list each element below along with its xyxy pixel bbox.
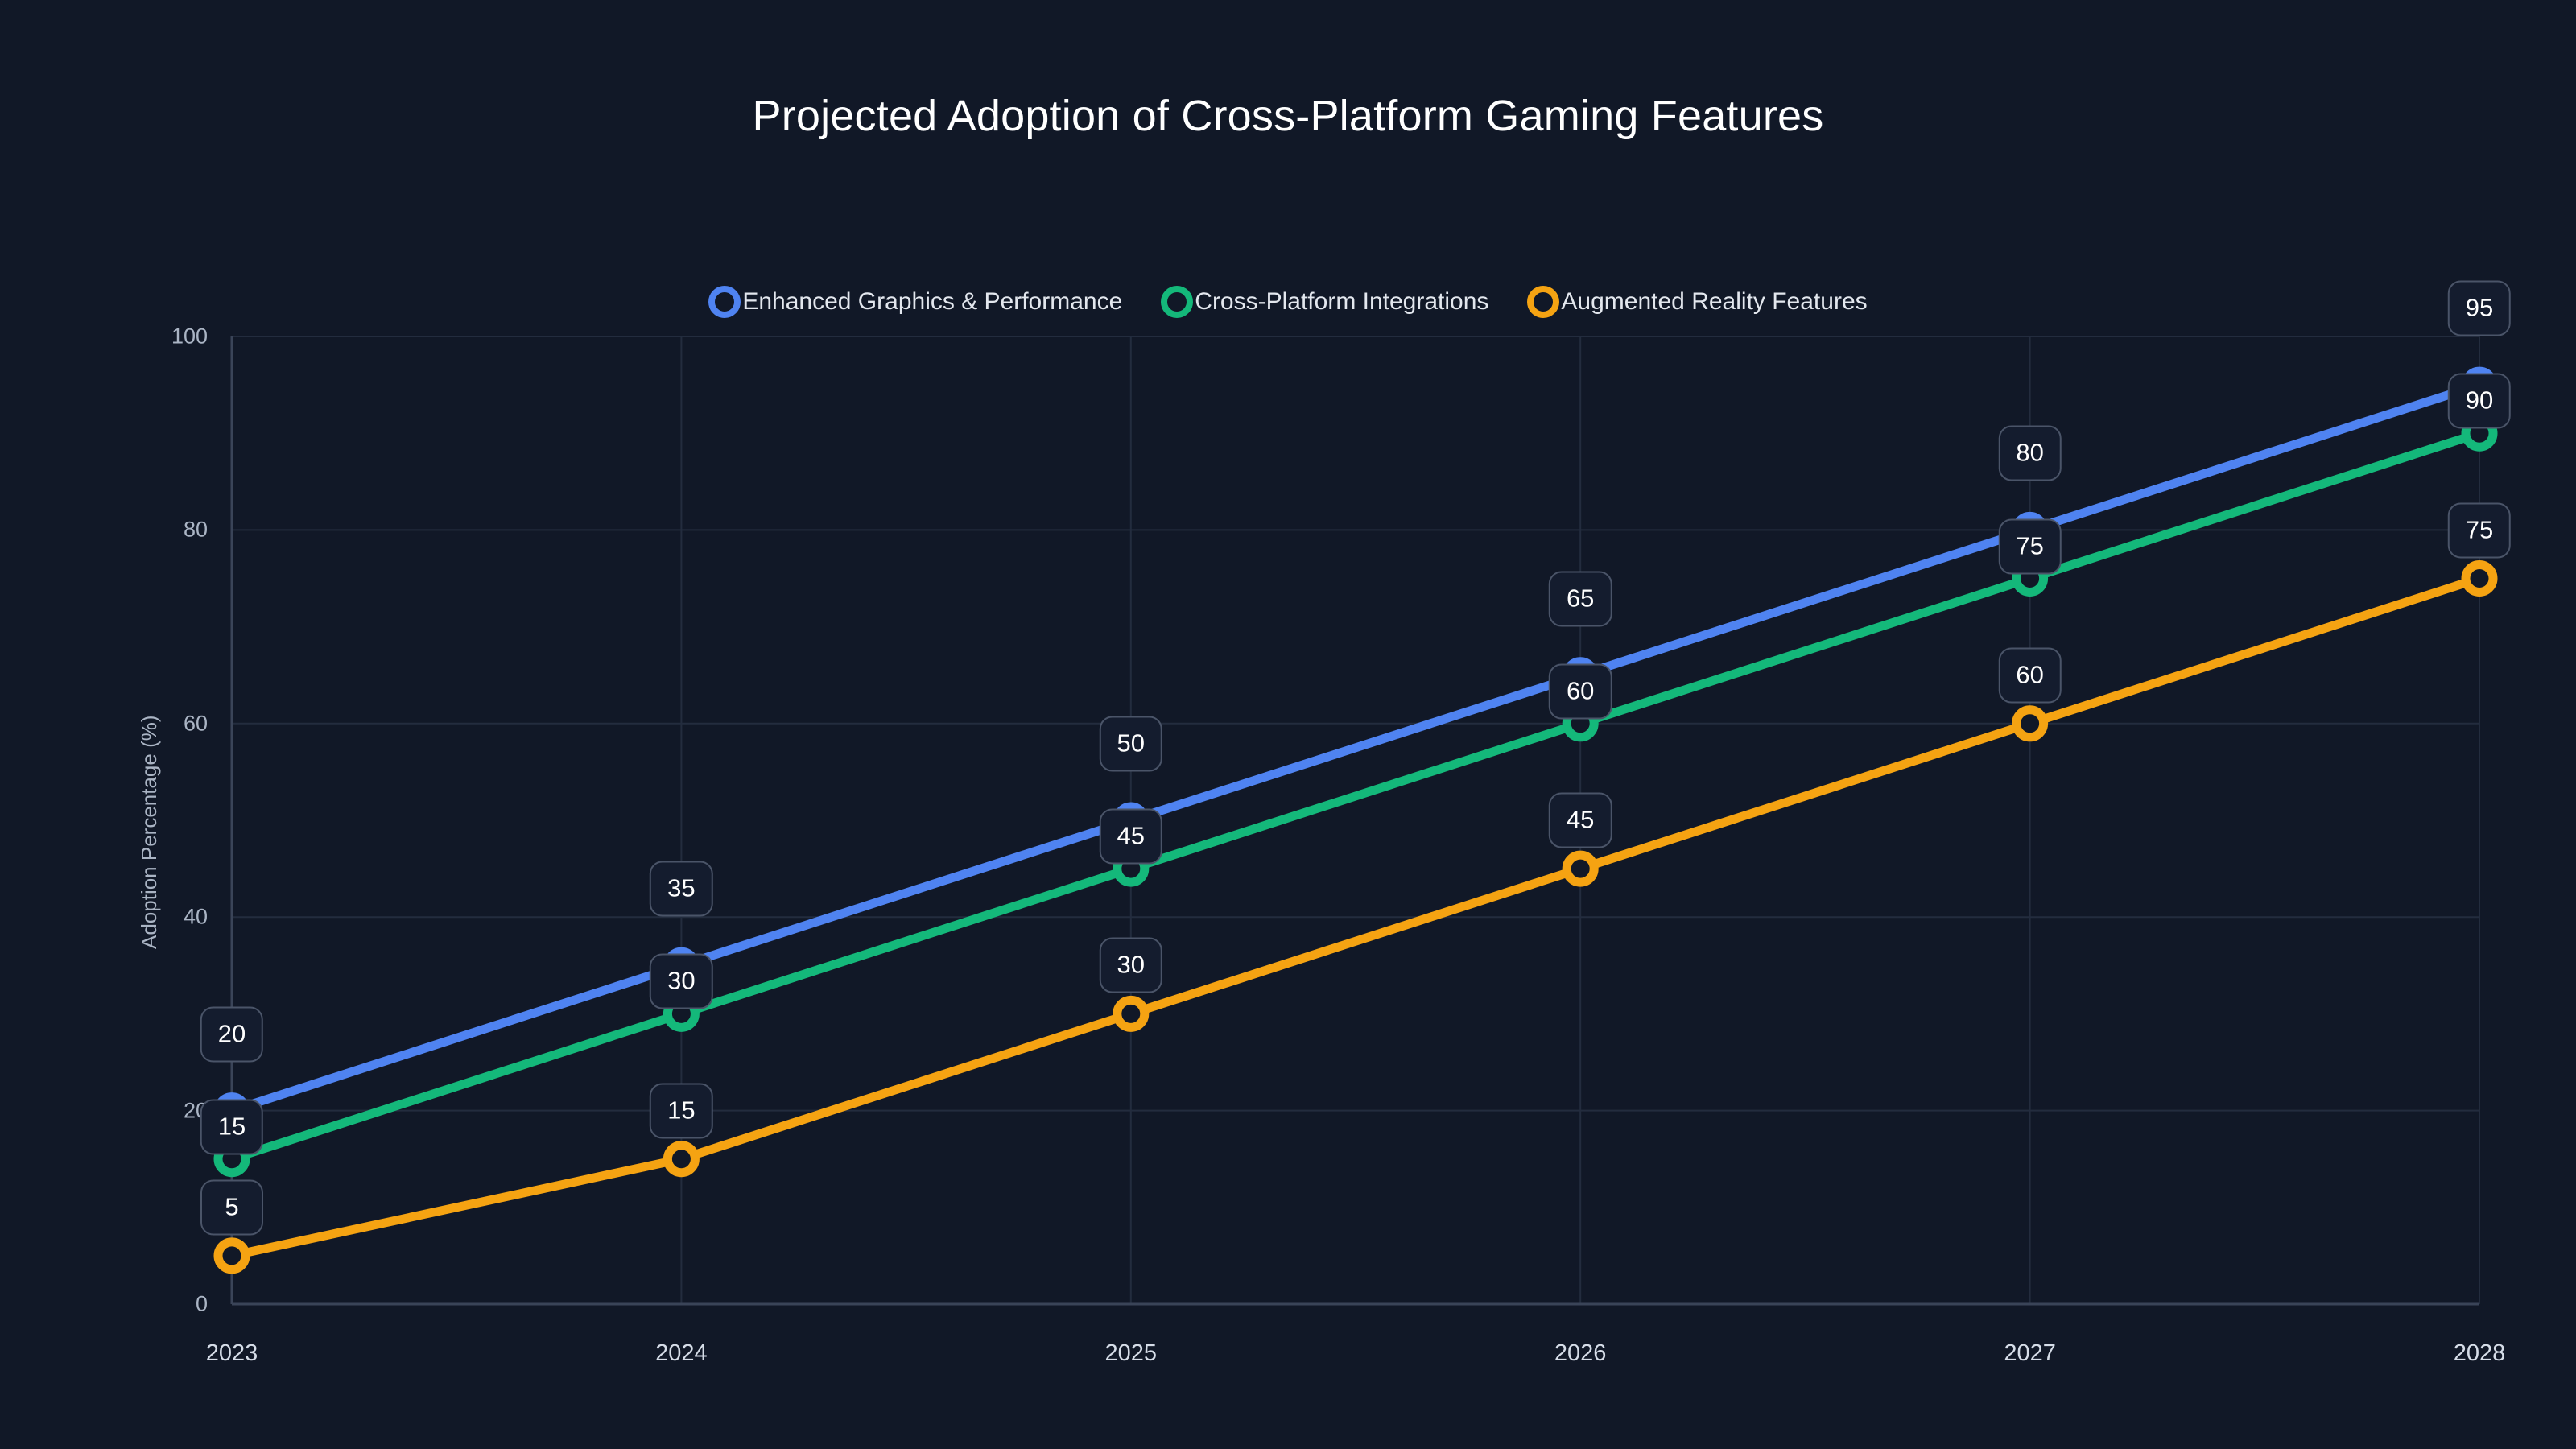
data-point-label: 35	[650, 861, 712, 917]
data-point-label: 15	[650, 1083, 712, 1138]
data-point-label: 60	[1549, 663, 1612, 719]
data-point-label: 65	[1549, 571, 1612, 626]
data-point-marker[interactable]	[667, 1146, 695, 1173]
data-point-marker[interactable]	[218, 1242, 246, 1269]
y-axis-tick-label: 0	[111, 1292, 208, 1317]
data-point-label: 45	[1100, 809, 1162, 865]
data-point-marker[interactable]	[1567, 855, 1594, 882]
x-axis-tick-label: 2023	[151, 1340, 312, 1367]
data-point-label: 75	[1998, 518, 2061, 574]
y-axis-tick-label: 80	[111, 518, 208, 543]
data-point-label: 5	[200, 1179, 263, 1235]
data-point-marker[interactable]	[2017, 710, 2044, 737]
x-axis-tick-label: 2027	[1950, 1340, 2111, 1367]
data-point-label: 80	[1998, 426, 2061, 481]
grid-lines	[232, 336, 2479, 1304]
data-point-label: 60	[1998, 647, 2061, 703]
data-point-marker[interactable]	[2466, 565, 2493, 592]
y-axis-tick-label: 20	[111, 1098, 208, 1123]
plot-area: 020406080100202320242025202620272028Adop…	[0, 0, 2576, 1449]
y-axis-tick-label: 100	[111, 324, 208, 349]
x-axis-tick-label: 2025	[1051, 1340, 1212, 1367]
series-line-1	[232, 433, 2479, 1158]
data-point-label: 20	[200, 1006, 263, 1062]
data-point-label: 45	[1549, 793, 1612, 848]
data-point-label: 30	[650, 954, 712, 1009]
data-point-label: 15	[200, 1099, 263, 1154]
plot-svg	[0, 0, 2576, 1449]
data-point-label: 95	[2448, 281, 2511, 336]
data-point-label: 30	[1100, 938, 1162, 993]
x-axis-tick-label: 2026	[1500, 1340, 1661, 1367]
axis-lines	[232, 336, 2479, 1304]
data-point-marker[interactable]	[1117, 1000, 1145, 1027]
x-axis-tick-label: 2028	[2399, 1340, 2560, 1367]
y-axis-title: Adoption Percentage (%)	[137, 715, 162, 949]
x-axis-tick-label: 2024	[601, 1340, 762, 1367]
chart-container: Projected Adoption of Cross-Platform Gam…	[0, 0, 2576, 1449]
series-line-0	[232, 385, 2479, 1111]
data-point-label: 90	[2448, 374, 2511, 429]
data-point-label: 50	[1100, 716, 1162, 772]
data-point-label: 75	[2448, 502, 2511, 558]
